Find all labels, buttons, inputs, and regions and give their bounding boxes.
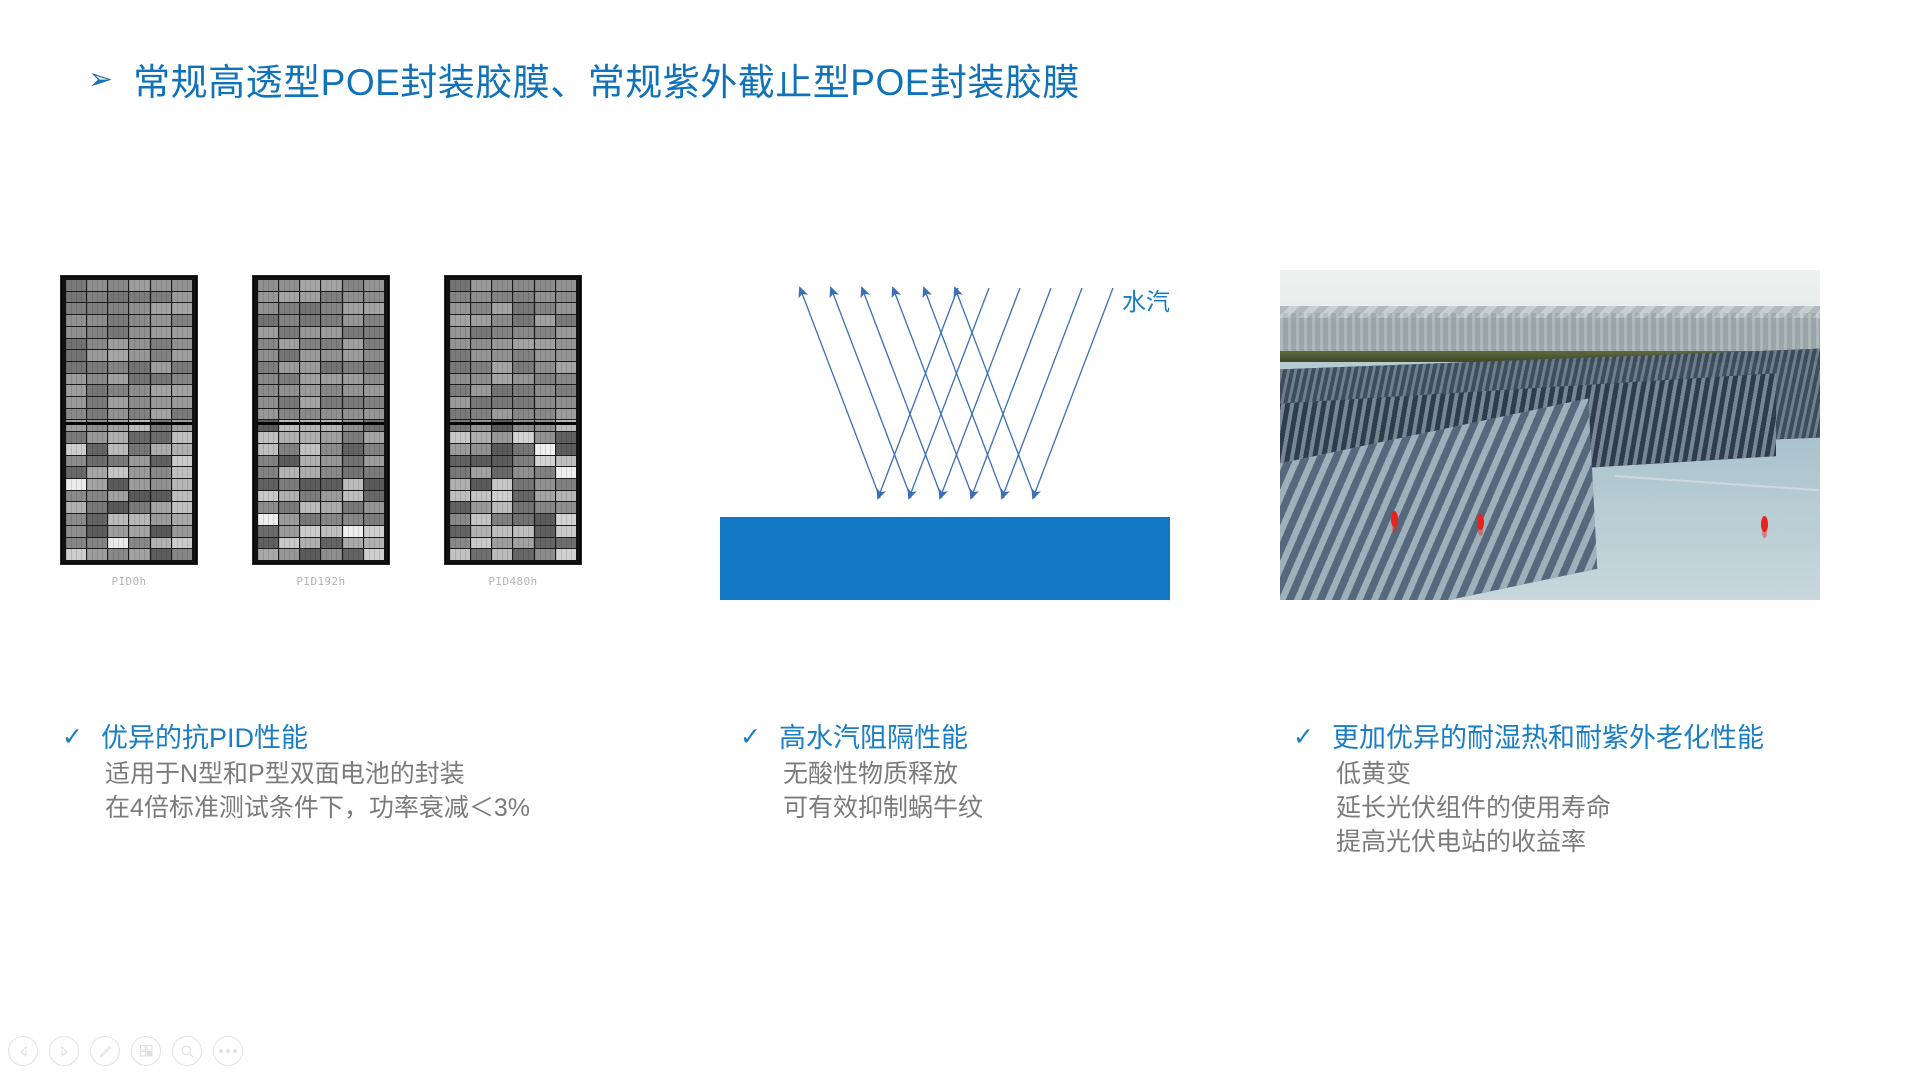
el-cell	[151, 327, 171, 338]
el-cell	[513, 479, 533, 490]
el-cell	[258, 339, 278, 350]
el-cell	[321, 514, 341, 525]
el-cell	[87, 339, 107, 350]
reflected-ray	[800, 288, 880, 498]
el-cell	[556, 479, 576, 490]
el-cell	[492, 491, 512, 502]
el-cell	[279, 327, 299, 338]
el-cell	[556, 397, 576, 408]
el-cell	[151, 315, 171, 326]
el-cell	[87, 456, 107, 467]
el-cell	[321, 432, 341, 443]
el-cell	[343, 456, 363, 467]
el-cell	[321, 280, 341, 291]
el-cell	[343, 385, 363, 396]
el-cell	[151, 526, 171, 537]
el-cell	[556, 339, 576, 350]
el-cell	[258, 292, 278, 303]
el-cell	[129, 456, 149, 467]
el-cell	[151, 292, 171, 303]
el-cell	[535, 339, 555, 350]
el-cell	[343, 327, 363, 338]
el-cell	[151, 538, 171, 549]
el-cell	[492, 456, 512, 467]
el-cell	[258, 362, 278, 373]
el-cell	[108, 315, 128, 326]
el-cell	[129, 432, 149, 443]
el-cell	[108, 362, 128, 373]
el-cell	[450, 456, 470, 467]
el-cell	[556, 362, 576, 373]
el-cell	[471, 444, 491, 455]
el-cell	[279, 397, 299, 408]
el-cell	[300, 339, 320, 350]
el-cell	[535, 397, 555, 408]
el-cell	[258, 385, 278, 396]
el-cell	[172, 339, 192, 350]
presentation-toolbar[interactable]	[8, 1036, 243, 1066]
el-cell	[172, 280, 192, 291]
el-cell	[300, 362, 320, 373]
el-cell	[492, 409, 512, 420]
el-cell	[471, 538, 491, 549]
photo-buoy	[1477, 514, 1484, 530]
el-cell	[492, 315, 512, 326]
el-cell	[300, 491, 320, 502]
el-panel-image-2	[444, 275, 582, 565]
el-cell	[364, 526, 384, 537]
el-cell	[343, 514, 363, 525]
el-cell	[343, 362, 363, 373]
el-cell	[66, 526, 86, 537]
el-cell	[108, 280, 128, 291]
el-cell	[471, 502, 491, 513]
el-cell	[471, 479, 491, 490]
el-cell	[343, 538, 363, 549]
el-cell	[258, 456, 278, 467]
el-cell	[108, 385, 128, 396]
el-cell	[129, 397, 149, 408]
el-cell	[129, 549, 149, 560]
el-cell	[151, 491, 171, 502]
el-panel-item-1: PID192h	[252, 275, 390, 565]
el-cell	[321, 385, 341, 396]
el-cell	[151, 467, 171, 478]
el-cell	[321, 409, 341, 420]
el-cell	[108, 292, 128, 303]
el-cell	[87, 385, 107, 396]
el-cell	[343, 292, 363, 303]
el-cell	[513, 538, 533, 549]
el-cell	[279, 502, 299, 513]
el-cell	[172, 350, 192, 361]
el-cell	[129, 374, 149, 385]
el-cell	[321, 526, 341, 537]
el-cell	[279, 292, 299, 303]
el-cell	[129, 491, 149, 502]
el-cell	[258, 467, 278, 478]
el-cell	[492, 327, 512, 338]
incident-ray	[971, 288, 1051, 498]
check-icon: ✓	[62, 722, 83, 752]
el-cell	[279, 549, 299, 560]
encapsulant-slab	[720, 517, 1170, 600]
next-slide-button[interactable]	[49, 1036, 79, 1066]
el-cell	[129, 514, 149, 525]
el-cell	[471, 526, 491, 537]
el-cell	[556, 350, 576, 361]
el-cell	[279, 385, 299, 396]
el-cell	[108, 374, 128, 385]
el-cell	[450, 303, 470, 314]
el-cell	[321, 339, 341, 350]
el-cell	[258, 280, 278, 291]
el-cell	[129, 444, 149, 455]
el-cell	[172, 456, 192, 467]
el-cell	[258, 526, 278, 537]
el-cell	[258, 374, 278, 385]
el-cell	[471, 397, 491, 408]
el-cell	[151, 432, 171, 443]
el-cell	[258, 444, 278, 455]
bullet-title: 更加优异的耐湿热和耐紫外老化性能	[1332, 722, 1764, 754]
el-cell	[108, 350, 128, 361]
el-cell	[321, 292, 341, 303]
el-cell	[108, 502, 128, 513]
el-cell	[450, 549, 470, 560]
el-panel-group: PID0h PID192h PID480h	[60, 275, 590, 595]
zoom-button[interactable]	[172, 1036, 202, 1066]
el-cell	[279, 444, 299, 455]
el-cell	[172, 538, 192, 549]
el-cell	[129, 339, 149, 350]
el-cell	[450, 315, 470, 326]
el-cell	[172, 467, 192, 478]
el-cell	[321, 502, 341, 513]
el-cell	[108, 467, 128, 478]
el-panel-caption-0: PID0h	[60, 575, 198, 588]
el-panel-caption-1: PID192h	[252, 575, 390, 588]
el-cell	[450, 350, 470, 361]
el-cell	[66, 327, 86, 338]
el-cell	[279, 538, 299, 549]
el-cell	[87, 432, 107, 443]
el-cell	[300, 374, 320, 385]
el-cell	[535, 280, 555, 291]
el-cell	[321, 303, 341, 314]
el-cell	[343, 339, 363, 350]
el-cell	[343, 502, 363, 513]
el-cell	[87, 502, 107, 513]
el-cell	[108, 397, 128, 408]
el-cell	[321, 362, 341, 373]
el-cell	[66, 491, 86, 502]
el-cell	[471, 385, 491, 396]
el-cell	[151, 444, 171, 455]
el-cell	[343, 374, 363, 385]
water-vapor-diagram: 水汽	[720, 270, 1180, 600]
el-cell	[535, 502, 555, 513]
el-cell	[87, 444, 107, 455]
el-cell	[343, 280, 363, 291]
el-cell	[535, 292, 555, 303]
el-cell	[492, 467, 512, 478]
el-cell	[535, 350, 555, 361]
el-cell	[300, 292, 320, 303]
slide-overview-button[interactable]	[131, 1036, 161, 1066]
el-cell	[279, 409, 299, 420]
el-cell	[513, 362, 533, 373]
incident-ray	[909, 288, 989, 498]
el-cell	[258, 549, 278, 560]
more-options-button[interactable]	[213, 1036, 243, 1066]
el-cell	[343, 467, 363, 478]
el-cell	[343, 315, 363, 326]
el-cell	[471, 280, 491, 291]
el-cell	[364, 514, 384, 525]
el-cell	[513, 397, 533, 408]
el-cell	[471, 549, 491, 560]
el-cell	[556, 444, 576, 455]
el-cell	[364, 538, 384, 549]
el-cell	[364, 444, 384, 455]
el-cell	[300, 315, 320, 326]
el-cell	[535, 538, 555, 549]
el-cell	[66, 397, 86, 408]
el-cell	[300, 456, 320, 467]
el-cell	[450, 502, 470, 513]
bullet-block-0: ✓ 优异的抗PID性能 适用于N型和P型双面电池的封装 在4倍标准测试条件下，功…	[62, 722, 530, 825]
el-cell	[129, 479, 149, 490]
el-cell	[129, 327, 149, 338]
floating-solar-farm-photo	[1280, 270, 1820, 600]
bullet-block-2: ✓ 更加优异的耐湿热和耐紫外老化性能 低黄变 延长光伏组件的使用寿命 提高光伏电…	[1293, 722, 1764, 859]
el-cell	[129, 303, 149, 314]
el-cell	[87, 526, 107, 537]
el-cell	[300, 538, 320, 549]
el-cell	[300, 444, 320, 455]
el-cell	[258, 514, 278, 525]
el-cell	[172, 491, 192, 502]
el-cell	[556, 292, 576, 303]
bullet-line: 在4倍标准测试条件下，功率衰减＜3%	[105, 791, 530, 825]
el-cell	[258, 315, 278, 326]
el-cell	[450, 409, 470, 420]
el-cell	[87, 327, 107, 338]
el-cell	[471, 327, 491, 338]
el-cell	[279, 432, 299, 443]
el-cell	[556, 526, 576, 537]
vapor-arrows-svg	[720, 270, 1180, 520]
el-cell	[108, 479, 128, 490]
el-cell	[66, 549, 86, 560]
previous-slide-button[interactable]	[8, 1036, 38, 1066]
el-cell	[556, 491, 576, 502]
el-cell	[471, 491, 491, 502]
el-cell	[471, 303, 491, 314]
check-icon: ✓	[740, 722, 761, 752]
el-cell	[129, 315, 149, 326]
el-cell	[129, 292, 149, 303]
el-cell	[450, 327, 470, 338]
el-cell	[364, 374, 384, 385]
el-cell	[300, 479, 320, 490]
el-cell	[108, 491, 128, 502]
el-cell	[151, 303, 171, 314]
el-cell	[300, 467, 320, 478]
el-cell	[151, 385, 171, 396]
el-cell	[279, 491, 299, 502]
el-cell	[450, 526, 470, 537]
el-cell	[513, 444, 533, 455]
incident-ray	[1002, 288, 1082, 498]
el-cell	[279, 374, 299, 385]
el-cell	[321, 444, 341, 455]
el-cell	[66, 432, 86, 443]
grid-icon	[139, 1044, 154, 1058]
el-cell	[535, 385, 555, 396]
el-cell	[492, 538, 512, 549]
el-cell	[343, 409, 363, 420]
el-cell	[172, 292, 192, 303]
el-cell	[556, 303, 576, 314]
el-cell	[172, 374, 192, 385]
el-cell	[364, 303, 384, 314]
el-cell	[172, 409, 192, 420]
el-cell	[300, 409, 320, 420]
el-cell	[492, 479, 512, 490]
feature-bullets: ✓ 优异的抗PID性能 适用于N型和P型双面电池的封装 在4倍标准测试条件下，功…	[0, 722, 1920, 962]
pen-button[interactable]	[90, 1036, 120, 1066]
search-icon	[180, 1044, 195, 1059]
el-cell	[66, 444, 86, 455]
el-cell	[556, 538, 576, 549]
el-cell	[87, 350, 107, 361]
el-cell	[258, 303, 278, 314]
el-cell	[492, 526, 512, 537]
el-cell	[513, 549, 533, 560]
el-cell	[129, 502, 149, 513]
el-cell	[151, 339, 171, 350]
el-cell	[535, 303, 555, 314]
el-cell	[450, 362, 470, 373]
el-cell	[66, 467, 86, 478]
pen-icon	[98, 1044, 113, 1059]
el-cell	[108, 432, 128, 443]
el-cell	[364, 327, 384, 338]
el-cell	[300, 514, 320, 525]
el-cell	[556, 549, 576, 560]
el-cell	[300, 549, 320, 560]
el-cell	[66, 315, 86, 326]
el-cell	[66, 385, 86, 396]
check-icon: ✓	[1293, 722, 1314, 752]
el-cell	[279, 514, 299, 525]
el-cell	[129, 467, 149, 478]
el-cell	[66, 479, 86, 490]
reflected-ray	[862, 288, 942, 498]
el-cell	[364, 502, 384, 513]
panel-divider	[449, 422, 576, 425]
el-cell	[258, 491, 278, 502]
triangle-right-icon	[58, 1045, 71, 1058]
bullet-line: 适用于N型和P型双面电池的封装	[105, 757, 530, 791]
el-cell	[513, 456, 533, 467]
el-cell	[279, 467, 299, 478]
el-cell	[258, 327, 278, 338]
el-cell	[450, 538, 470, 549]
el-cell	[450, 292, 470, 303]
el-cell	[471, 467, 491, 478]
el-cell	[492, 350, 512, 361]
el-cell	[535, 362, 555, 373]
el-cell	[513, 491, 533, 502]
el-cell	[535, 444, 555, 455]
el-cell	[87, 374, 107, 385]
el-cell	[513, 327, 533, 338]
el-cell	[279, 526, 299, 537]
el-cell	[172, 479, 192, 490]
el-cell	[364, 409, 384, 420]
el-cell	[364, 292, 384, 303]
el-cell	[108, 514, 128, 525]
photo-buoy	[1761, 516, 1768, 532]
reflected-ray	[955, 288, 1035, 498]
el-cell	[108, 409, 128, 420]
el-cell	[535, 327, 555, 338]
el-cell	[513, 292, 533, 303]
el-cell	[151, 362, 171, 373]
el-cell	[513, 303, 533, 314]
el-cell	[492, 339, 512, 350]
el-cell	[556, 432, 576, 443]
el-cell	[300, 385, 320, 396]
el-cell	[87, 491, 107, 502]
el-panel-item-2: PID480h	[444, 275, 582, 565]
ellipsis-icon	[219, 1049, 237, 1053]
el-cell	[343, 303, 363, 314]
el-cell	[87, 514, 107, 525]
el-cell	[279, 479, 299, 490]
el-cell	[129, 385, 149, 396]
reflected-ray	[831, 288, 911, 498]
el-cell	[279, 350, 299, 361]
el-cell	[172, 444, 192, 455]
el-cell	[151, 549, 171, 560]
el-cell	[450, 467, 470, 478]
el-cell	[279, 362, 299, 373]
el-cell	[471, 456, 491, 467]
el-cell	[343, 479, 363, 490]
el-cell	[492, 280, 512, 291]
el-cell	[87, 549, 107, 560]
el-cell	[364, 479, 384, 490]
el-cell	[513, 339, 533, 350]
el-cell	[258, 432, 278, 443]
el-cell	[108, 456, 128, 467]
el-cell	[151, 374, 171, 385]
el-cell	[258, 538, 278, 549]
el-cell	[556, 374, 576, 385]
el-panel-image-1	[252, 275, 390, 565]
el-cell	[279, 339, 299, 350]
el-cell	[364, 432, 384, 443]
el-cell	[321, 491, 341, 502]
el-cell	[151, 479, 171, 490]
el-cell	[492, 549, 512, 560]
el-cell	[321, 315, 341, 326]
el-cell	[471, 339, 491, 350]
